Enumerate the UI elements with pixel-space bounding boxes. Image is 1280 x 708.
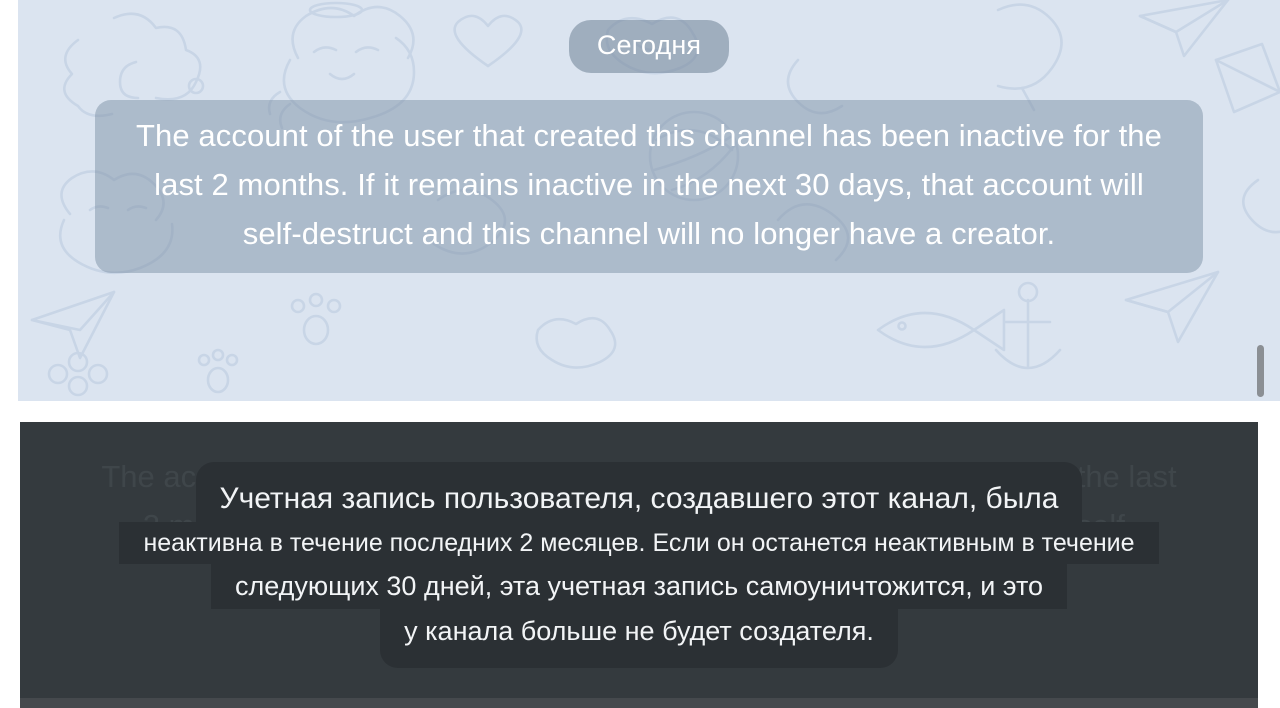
service-message-row: The account of the user that created thi… [18, 100, 1280, 273]
translation-line-1: Учетная запись пользователя, создавшего … [196, 462, 1083, 522]
date-separator: Сегодня [18, 20, 1280, 73]
screenshot-root: Сегодня The account of the user that cre… [0, 0, 1280, 708]
chat-pane: Сегодня The account of the user that cre… [18, 0, 1280, 401]
translation-footer-bar [20, 698, 1258, 708]
translation-bubble[interactable]: Учетная запись пользователя, создавшего … [20, 462, 1258, 668]
translation-line-3: следующих 30 дней, эта учетная запись са… [211, 564, 1067, 609]
date-badge[interactable]: Сегодня [569, 20, 729, 73]
translation-overlay-pane: The account of the user that created thi… [20, 422, 1258, 708]
service-message-bubble[interactable]: The account of the user that created thi… [95, 100, 1203, 273]
chat-scrollbar-thumb[interactable] [1257, 345, 1264, 397]
translation-line-2: неактивна в течение последних 2 месяцев.… [119, 522, 1158, 564]
translation-line-4: у канала больше не будет создателя. [380, 609, 898, 668]
pane-divider [0, 401, 1280, 422]
